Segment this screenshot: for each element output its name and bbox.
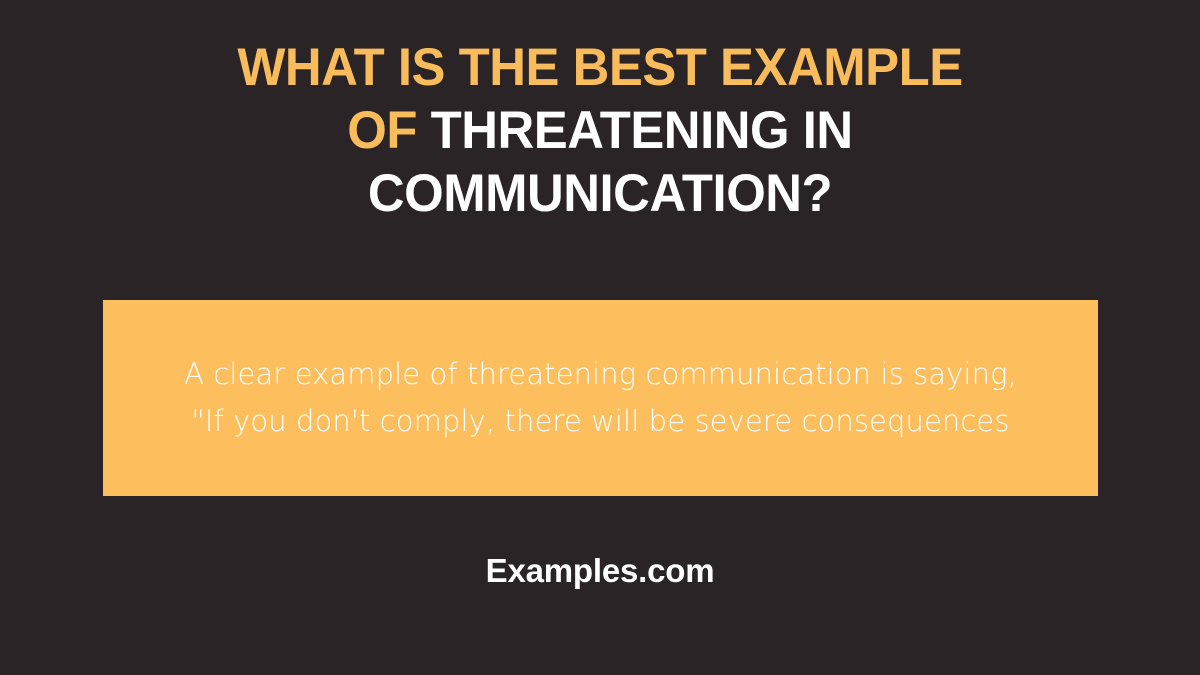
title-line-2-accent: OF (347, 101, 417, 160)
title-line-3-plain: COMMUNICATION? (368, 164, 832, 223)
answer-text: A clear example of threatening communica… (173, 351, 1028, 445)
footer: Examples.com (0, 552, 1200, 590)
brand-label: Examples.com (486, 552, 715, 589)
answer-callout-box: A clear example of threatening communica… (103, 300, 1098, 496)
title-line-2: OF THREATENING IN (72, 99, 1128, 162)
page-title: WHAT IS THE BEST EXAMPLE OF THREATENING … (50, 36, 1150, 225)
title-line-3: COMMUNICATION? (72, 162, 1128, 225)
title-line-1-accent: WHAT IS THE BEST EXAMPLE (237, 38, 962, 97)
title-line-1: WHAT IS THE BEST EXAMPLE (72, 36, 1128, 99)
title-line-2-plain: THREATENING IN (431, 101, 853, 160)
info-card: WHAT IS THE BEST EXAMPLE OF THREATENING … (0, 0, 1200, 675)
